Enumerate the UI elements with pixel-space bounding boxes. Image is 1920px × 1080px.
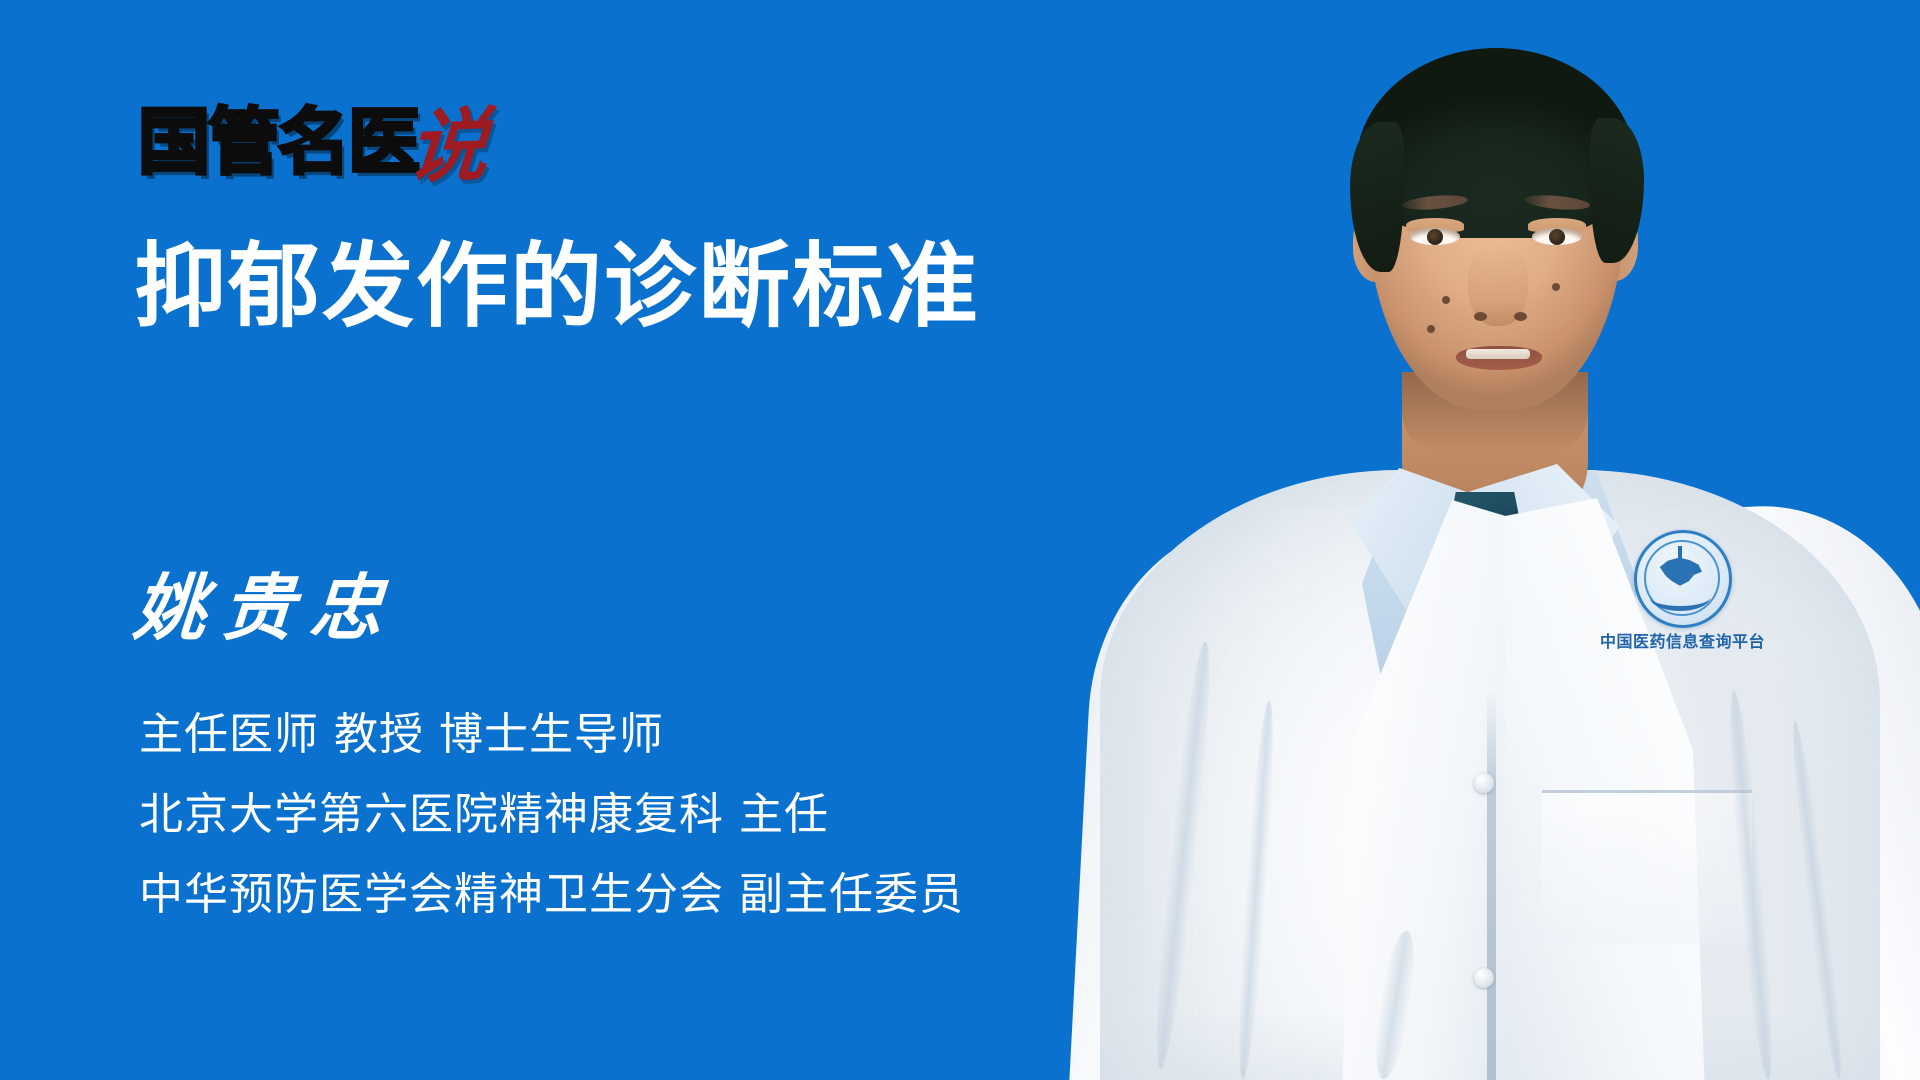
iris-right <box>1549 229 1565 245</box>
mouth <box>1456 346 1542 370</box>
program-logo: 国管名医 说 <box>138 96 488 178</box>
eye-right <box>1532 228 1582 245</box>
slide-canvas: 中国医药信息查询平台 国管名医 说 抑郁发作的诊断标准 姚贵忠 主任医师 教授 … <box>0 0 1920 1080</box>
coat-center-seam <box>1487 690 1496 1080</box>
credential-line: 北京大学第六医院精神康复科 主任 <box>139 792 964 838</box>
program-logo-main: 国管名医 <box>138 106 418 178</box>
coat-button <box>1474 773 1494 793</box>
coat-pocket <box>1542 790 1752 943</box>
credential-line: 中华预防医学会精神卫生分会 副主任委员 <box>139 872 964 918</box>
speaker-name: 姚贵忠 <box>131 572 400 644</box>
coat-badge: 中国医药信息查询平台 <box>1600 528 1760 663</box>
nostril-left <box>1474 312 1487 321</box>
badge-wreath-icon <box>1650 584 1710 611</box>
coat-button <box>1474 968 1494 988</box>
credential-line: 主任医师 教授 博士生导师 <box>139 712 964 758</box>
page-title: 抑郁发作的诊断标准 <box>134 237 980 336</box>
program-logo-accent: 说 <box>405 107 491 186</box>
eye-left <box>1410 228 1460 245</box>
speaker-credentials: 主任医师 教授 博士生导师 北京大学第六医院精神康复科 主任 中华预防医学会精神… <box>139 712 964 919</box>
badge-label: 中国医药信息查询平台 <box>1600 628 1760 652</box>
nostril-right <box>1514 312 1527 321</box>
iris-left <box>1427 229 1443 245</box>
speaker-portrait: 中国医药信息查询平台 <box>1050 0 1920 1080</box>
facial-mole <box>1442 296 1450 304</box>
facial-mole <box>1552 283 1560 291</box>
facial-mole <box>1427 325 1435 333</box>
teeth <box>1466 349 1530 359</box>
